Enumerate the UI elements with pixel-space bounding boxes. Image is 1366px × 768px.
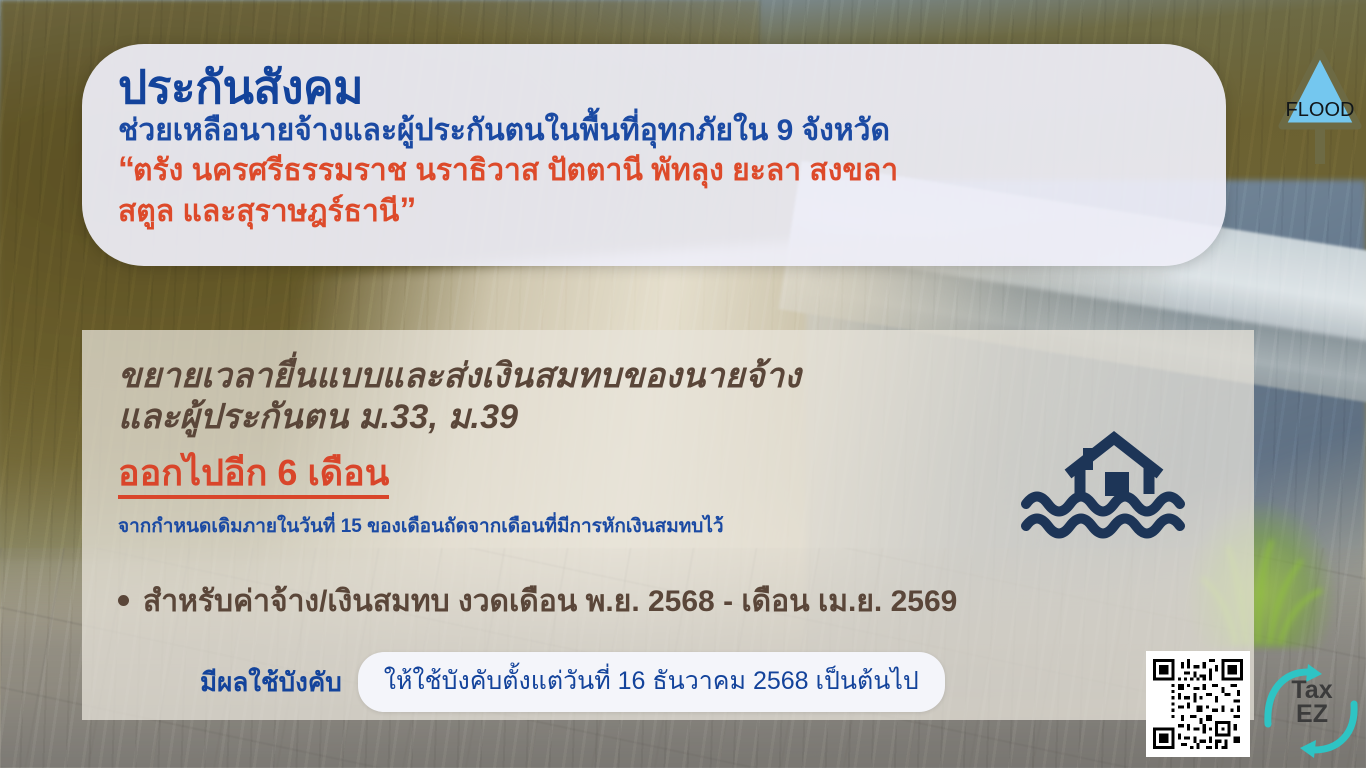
taxez-logo-text: Tax EZ bbox=[1276, 678, 1348, 726]
effective-date-row: มีผลใช้บังคับ ให้ใช้บังคับตั้งแต่วันที่ … bbox=[200, 652, 945, 712]
close-quote: ” bbox=[399, 191, 414, 229]
flood-warning-triangle-icon: FLOOD bbox=[1278, 38, 1362, 168]
taxez-logo[interactable]: Tax EZ bbox=[1262, 662, 1360, 758]
open-quote: “ bbox=[118, 150, 133, 188]
extension-highlight: ออกไปอีก 6 เดือน bbox=[118, 452, 389, 499]
province-list-line-1: ตรัง นครศรีธรรมราช นราธิวาส ปัตตานี พัทล… bbox=[133, 154, 898, 187]
coverage-period-text: สำหรับค่าจ้าง/เงินสมทบ งวดเดือน พ.ย. 256… bbox=[143, 585, 957, 618]
province-list-line-2: สตูล และสุราษฎร์ธานี bbox=[118, 195, 399, 228]
header-card: ประกันสังคม ช่วยเหลือนายจ้างและผู้ประกัน… bbox=[82, 44, 1226, 266]
infographic-canvas: ประกันสังคม ช่วยเหลือนายจ้างและผู้ประกัน… bbox=[0, 0, 1366, 768]
header-subtitle: ช่วยเหลือนายจ้างและผู้ประกันตนในพื้นที่อ… bbox=[118, 114, 1190, 147]
page-title: ประกันสังคม bbox=[118, 64, 1190, 110]
flood-sign-label: FLOOD bbox=[1286, 99, 1355, 121]
coverage-period-bullet: สำหรับค่าจ้าง/เงินสมทบ งวดเดือน พ.ย. 256… bbox=[118, 578, 957, 625]
province-list: “ตรัง นครศรีธรรมราช นราธิวาส ปัตตานี พัท… bbox=[118, 149, 1190, 232]
main-text-line-1: ขยายเวลายื่นแบบและส่งเงินสมทบของนายจ้าง bbox=[118, 356, 1224, 397]
taxez-logo-line-2: EZ bbox=[1296, 700, 1328, 728]
effective-label: มีผลใช้บังคับ bbox=[200, 662, 342, 703]
house-flood-icon bbox=[1010, 428, 1210, 540]
qr-code[interactable] bbox=[1146, 651, 1250, 757]
bullet-dot-icon bbox=[118, 595, 129, 606]
effective-date-pill: ให้ใช้บังคับตั้งแต่วันที่ 16 ธันวาคม 256… bbox=[358, 652, 945, 712]
